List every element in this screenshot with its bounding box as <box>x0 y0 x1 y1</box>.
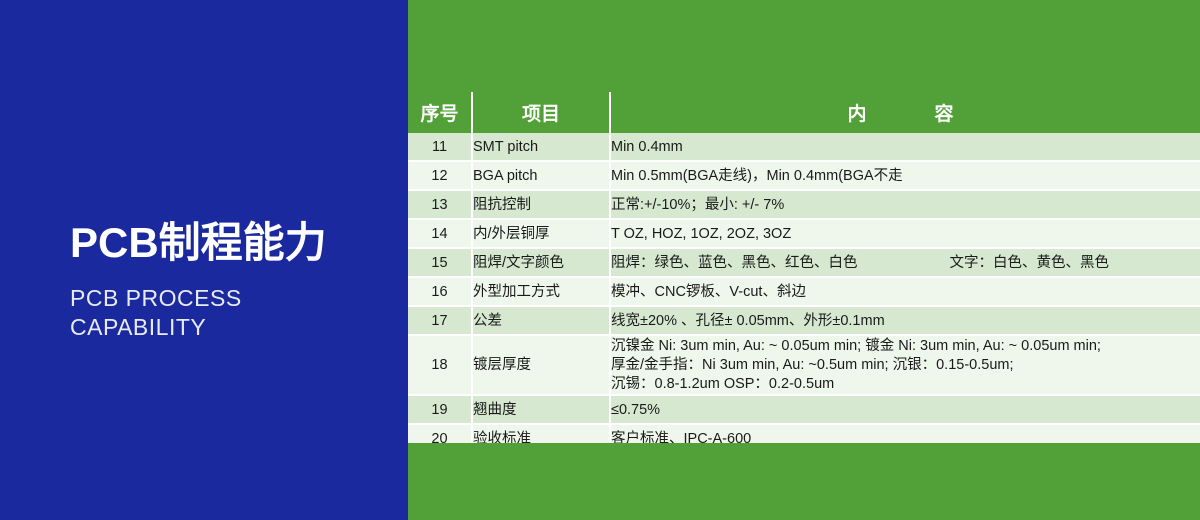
capability-table: 序号 项目 内 容 11 SMT pitch Min 0.4mm 12 BGA … <box>408 92 1200 454</box>
page-subtitle-line-1: PCB PROCESS <box>70 284 400 313</box>
column-header-content-label: 内 容 <box>847 104 963 125</box>
table-footer-spacer <box>408 443 1200 520</box>
cell-content: ≤0.75% <box>610 395 1200 424</box>
cell-content-line-3: 沉锡：0.8-1.2um OSP：0.2-0.5um <box>611 375 1200 394</box>
cell-content: 阻焊：绿色、蓝色、黑色、红色、白色文字：白色、黄色、黑色 <box>610 248 1200 277</box>
cell-item: 翘曲度 <box>472 395 610 424</box>
left-title-panel: PCB制程能力 PCB PROCESS CAPABILITY <box>0 0 408 520</box>
cell-content: Min 0.5mm(BGA走线)，Min 0.4mm(BGA不走 <box>610 161 1200 190</box>
table-row: 14 内/外层铜厚 T OZ, HOZ, 1OZ, 2OZ, 3OZ <box>408 219 1200 248</box>
cell-content-multiline: 沉镍金 Ni: 3um min, Au: ~ 0.05um min; 镀金 Ni… <box>611 337 1200 394</box>
cell-content-line-1: 沉镍金 Ni: 3um min, Au: ~ 0.05um min; 镀金 Ni… <box>611 337 1200 356</box>
cell-no: 12 <box>408 161 472 190</box>
table-row: 13 阻抗控制 正常:+/-10%；最小: +/- 7% <box>408 190 1200 219</box>
cell-no: 13 <box>408 190 472 219</box>
cell-item: BGA pitch <box>472 161 610 190</box>
slide-canvas: PCB制程能力 PCB PROCESS CAPABILITY 序号 项目 内 容 <box>0 0 1200 520</box>
column-header-content: 内 容 <box>610 92 1200 133</box>
column-header-item: 项目 <box>472 92 610 133</box>
cell-content: 模冲、CNC锣板、V-cut、斜边 <box>610 277 1200 306</box>
cell-content: 正常:+/-10%；最小: +/- 7% <box>610 190 1200 219</box>
page-subtitle-line-2: CAPABILITY <box>70 313 400 342</box>
table-row: 18 镀层厚度 沉镍金 Ni: 3um min, Au: ~ 0.05um mi… <box>408 335 1200 395</box>
cell-content: 沉镍金 Ni: 3um min, Au: ~ 0.05um min; 镀金 Ni… <box>610 335 1200 395</box>
cell-item: 阻抗控制 <box>472 190 610 219</box>
cell-content-main: 阻焊：绿色、蓝色、黑色、红色、白色 <box>611 255 858 271</box>
cell-item: 镀层厚度 <box>472 335 610 395</box>
cell-no: 16 <box>408 277 472 306</box>
table-header-row: 序号 项目 内 容 <box>408 92 1200 133</box>
page-title-cn: PCB制程能力 <box>70 218 400 268</box>
table-row: 19 翘曲度 ≤0.75% <box>408 395 1200 424</box>
table-row: 17 公差 线宽±20% 、孔径± 0.05mm、外形±0.1mm <box>408 306 1200 335</box>
cell-item: 阻焊/文字颜色 <box>472 248 610 277</box>
cell-content-secondary: 文字：白色、黄色、黑色 <box>858 254 1110 272</box>
cell-content: Min 0.4mm <box>610 133 1200 161</box>
cell-no: 15 <box>408 248 472 277</box>
cell-no: 11 <box>408 133 472 161</box>
cell-content: T OZ, HOZ, 1OZ, 2OZ, 3OZ <box>610 219 1200 248</box>
cell-item: 公差 <box>472 306 610 335</box>
table-row: 11 SMT pitch Min 0.4mm <box>408 133 1200 161</box>
cell-content: 线宽±20% 、孔径± 0.05mm、外形±0.1mm <box>610 306 1200 335</box>
cell-no: 17 <box>408 306 472 335</box>
page-subtitle-en: PCB PROCESS CAPABILITY <box>70 284 400 342</box>
cell-content-line-2: 厚金/金手指：Ni 3um min, Au: ~0.5um min; 沉银：0.… <box>611 356 1200 375</box>
table-row: 15 阻焊/文字颜色 阻焊：绿色、蓝色、黑色、红色、白色文字：白色、黄色、黑色 <box>408 248 1200 277</box>
table-row: 12 BGA pitch Min 0.5mm(BGA走线)，Min 0.4mm(… <box>408 161 1200 190</box>
title-block: PCB制程能力 PCB PROCESS CAPABILITY <box>70 218 400 342</box>
cell-no: 14 <box>408 219 472 248</box>
cell-item: 外型加工方式 <box>472 277 610 306</box>
cell-item: 内/外层铜厚 <box>472 219 610 248</box>
capability-table-wrapper: 序号 项目 内 容 11 SMT pitch Min 0.4mm 12 BGA … <box>408 92 1200 454</box>
cell-no: 18 <box>408 335 472 395</box>
table-row: 16 外型加工方式 模冲、CNC锣板、V-cut、斜边 <box>408 277 1200 306</box>
cell-no: 19 <box>408 395 472 424</box>
cell-item: SMT pitch <box>472 133 610 161</box>
column-header-no: 序号 <box>408 92 472 133</box>
